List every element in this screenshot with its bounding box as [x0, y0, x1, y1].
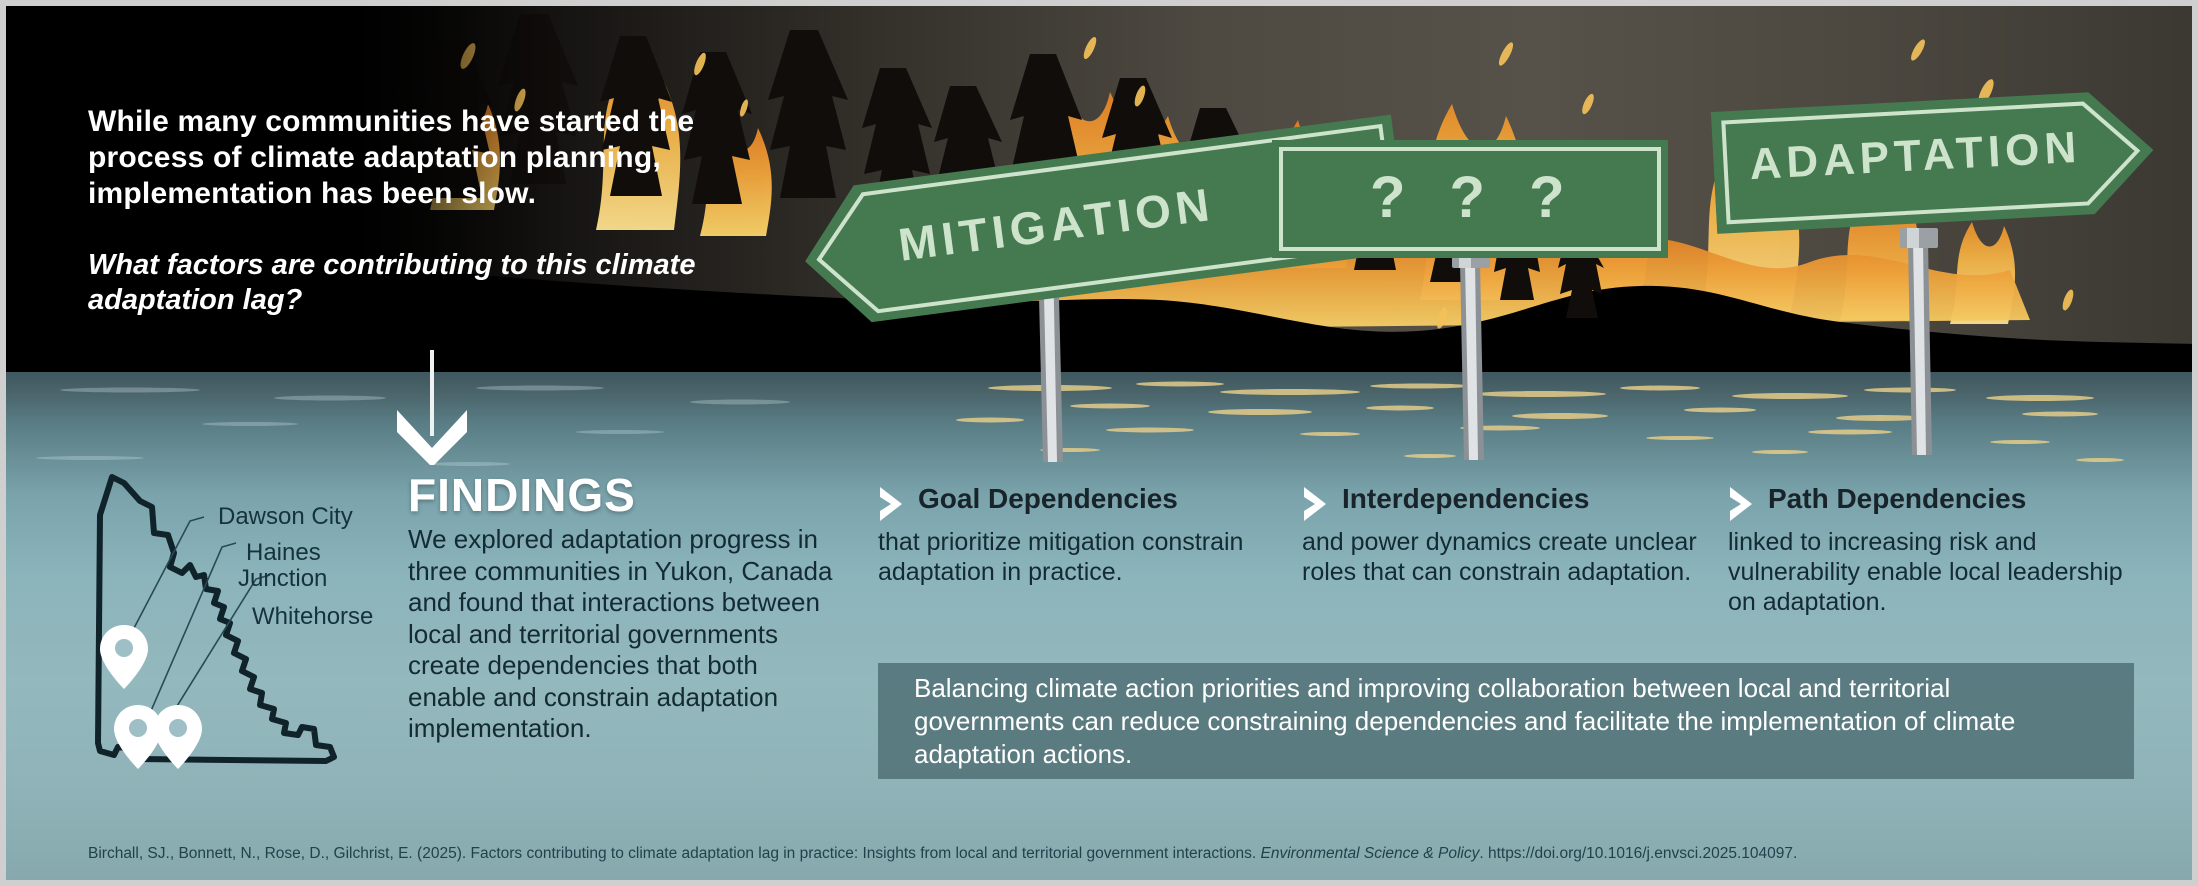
- findings-heading: FINDINGS: [408, 470, 838, 520]
- conclusion-panel: Balancing climate action priorities and …: [878, 663, 2134, 779]
- citation: Birchall, SJ., Bonnett, N., Rose, D., Gi…: [88, 845, 2138, 863]
- sign-adaptation-board: ADAPTATION: [1711, 85, 2157, 238]
- citation-journal: Environmental Science & Policy: [1261, 845, 1480, 862]
- research-question: What factors are contributing to this cl…: [88, 248, 708, 318]
- down-arrow-icon: [383, 350, 483, 465]
- finding-column-path-dependencies: Path Dependencies linked to increasing r…: [1728, 483, 2128, 617]
- map-label-junction: Junction: [238, 566, 327, 592]
- finding-title: Path Dependencies: [1768, 483, 2026, 515]
- citation-authors: Birchall, SJ., Bonnett, N., Rose, D., Gi…: [88, 845, 466, 862]
- chevron-right-icon: [1728, 485, 1754, 525]
- finding-body: and power dynamics create unclear roles …: [1302, 527, 1702, 587]
- graphical-abstract: MITIGATION ? ? ?: [0, 0, 2198, 886]
- chevron-right-icon: [1302, 485, 1328, 525]
- intro-statement: While many communities have started the …: [88, 104, 748, 212]
- finding-body: that prioritize mitigation constrain ada…: [878, 527, 1278, 587]
- map-label-dawson-city: Dawson City: [218, 504, 353, 530]
- findings-block: FINDINGS We explored adaptation progress…: [408, 470, 838, 745]
- findings-body: We explored adaptation progress in three…: [408, 524, 838, 745]
- citation-doi: . https://doi.org/10.1016/j.envsci.2025.…: [1479, 845, 1797, 862]
- finding-column-goal-dependencies: Goal Dependencies that prioritize mitiga…: [878, 483, 1278, 587]
- citation-title: Factors contributing to climate adaptati…: [470, 845, 1256, 862]
- chevron-right-icon: [878, 485, 904, 525]
- conclusion-text: Balancing climate action priorities and …: [878, 672, 2134, 771]
- finding-column-interdependencies: Interdependencies and power dynamics cre…: [1302, 483, 1702, 587]
- finding-title: Interdependencies: [1342, 483, 1589, 515]
- finding-body: linked to increasing risk and vulnerabil…: [1728, 527, 2128, 617]
- map-label-haines: Haines: [246, 540, 321, 566]
- finding-title: Goal Dependencies: [918, 483, 1178, 515]
- map-label-whitehorse: Whitehorse: [252, 604, 373, 630]
